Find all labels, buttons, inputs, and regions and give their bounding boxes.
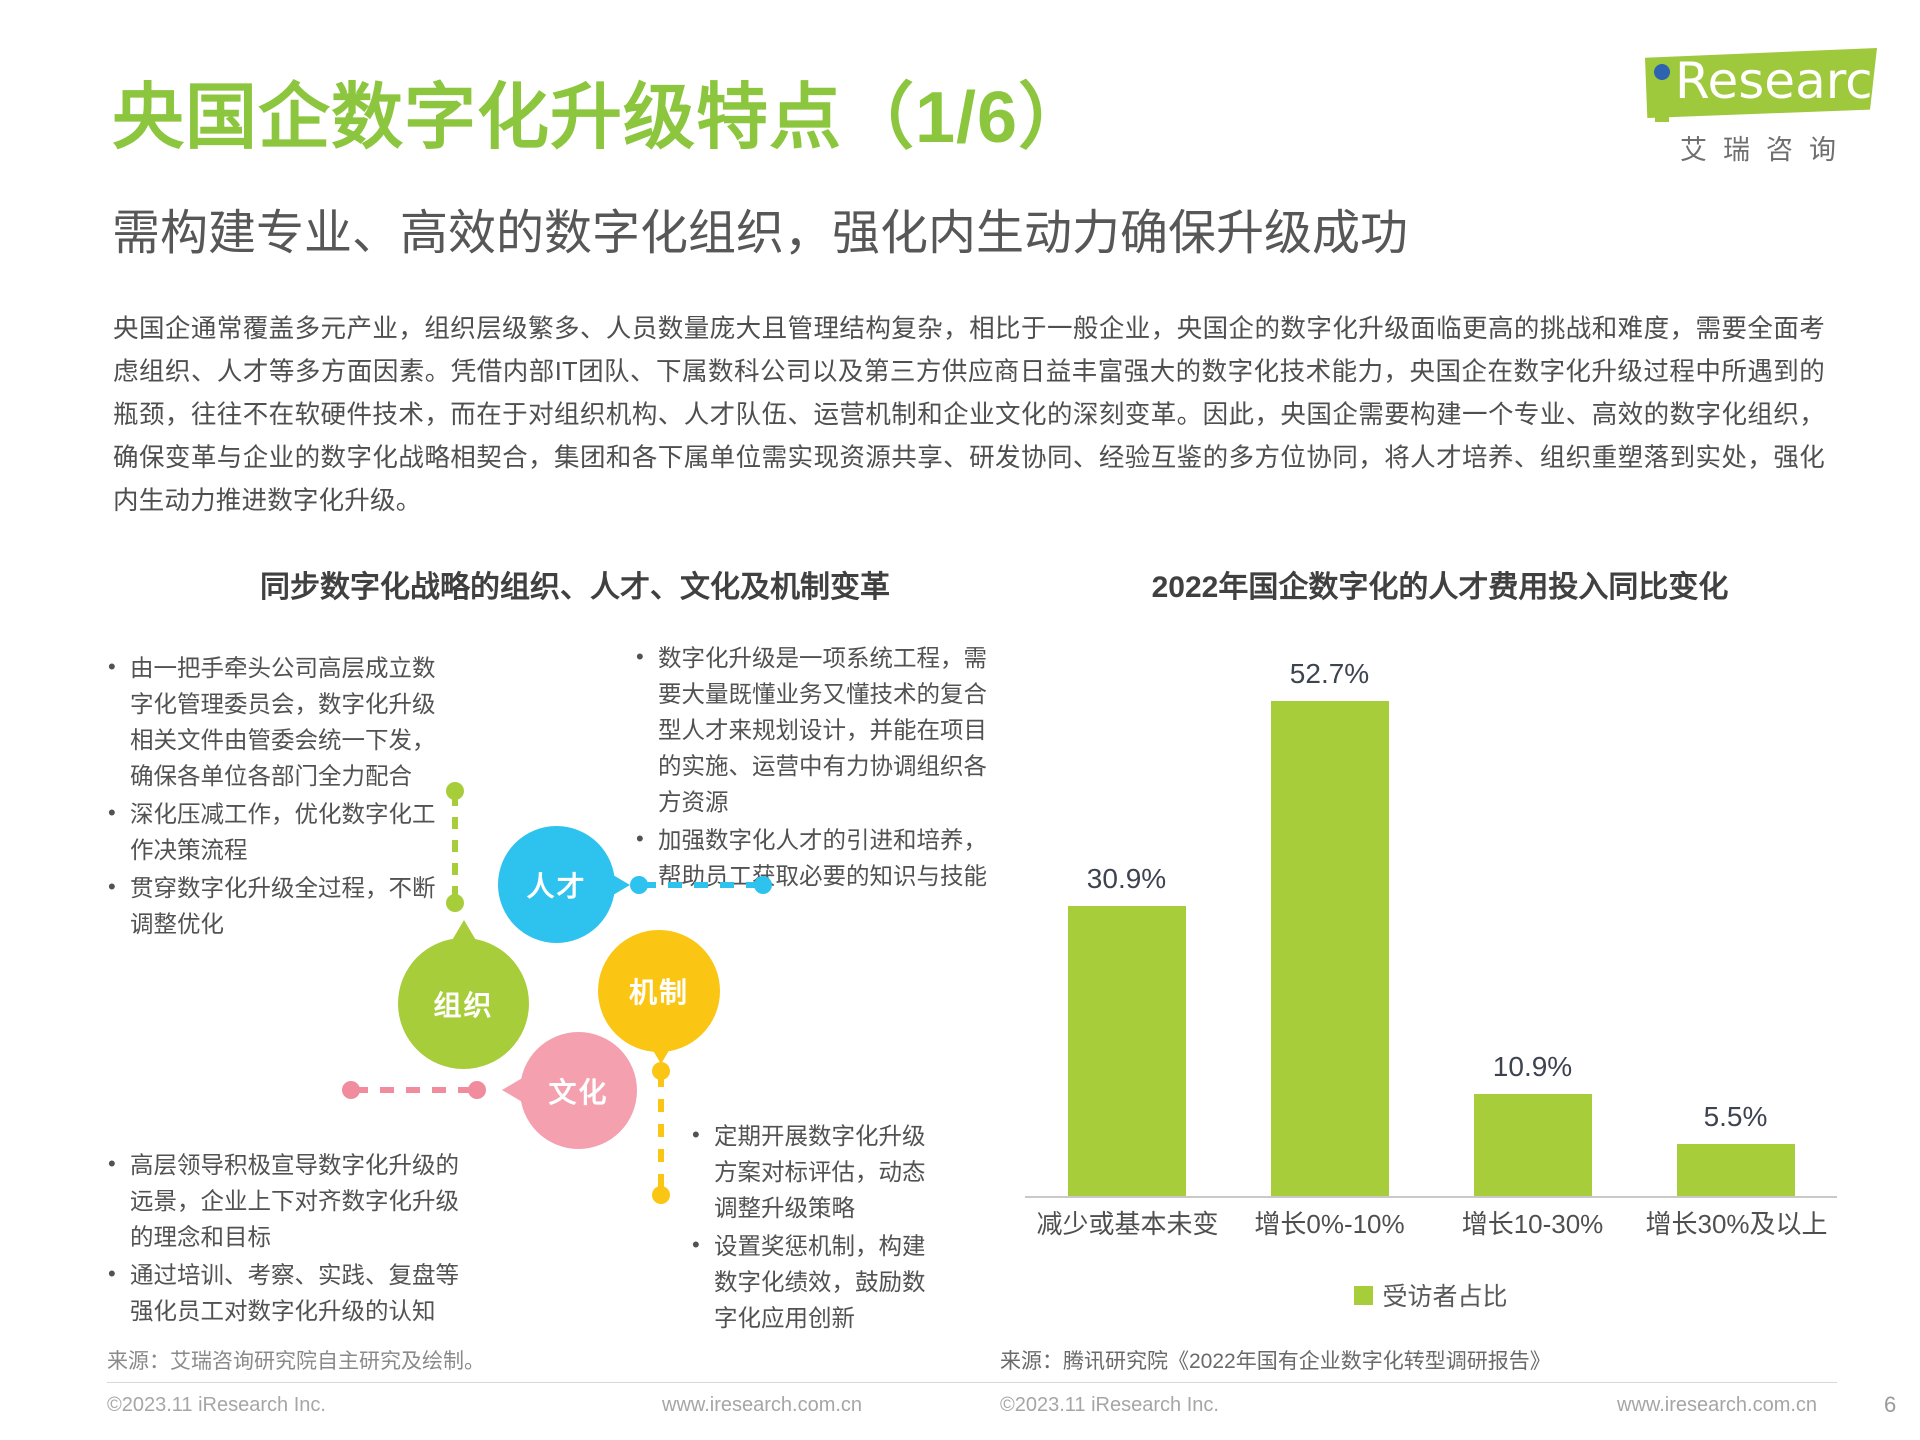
connector-dot [652,1186,670,1204]
footer-url-right[interactable]: www.iresearch.com.cn [1617,1394,1817,1417]
logo-chinese-name: 艾瑞咨询 [1653,128,1879,167]
connector-dot [468,1081,486,1099]
connector-dashes [354,1087,474,1093]
chart-legend: 受访者占比 [1025,1277,1837,1313]
four-pillar-bubble-diagram: 组织 人才 机制 文化 [380,810,800,1180]
bubble-talent: 人才 [498,826,615,943]
x-tick-label: 减少或基本未变 [1037,1204,1217,1241]
connector-dashes [452,794,458,906]
bar-slot: 5.5% [1646,632,1826,1196]
list-item: 由一把手牵头公司高层成立数字化管理委员会，数字化升级相关文件由管委会统一下发，确… [104,650,454,794]
x-tick-label: 增长10-30% [1443,1204,1623,1241]
chart-plot-area: 30.9% 52.7% 10.9% 5.5% [1025,632,1837,1198]
mechanism-connector-line [652,1062,670,1210]
page-subtitle: 需构建专业、高效的数字化组织，强化内生动力确保升级成功 [112,193,1408,263]
x-tick-label: 增长30%及以上 [1646,1204,1826,1241]
bubble-label: 文化 [548,1071,608,1111]
connector-dashes [658,1074,664,1192]
bubble-label: 机制 [629,971,689,1011]
logo-wordmark: Research [1675,52,1904,110]
talent-cost-bar-chart: 30.9% 52.7% 10.9% 5.5% 减少或基本未变 [1025,632,1837,1332]
legend-label: 受访者占比 [1382,1277,1507,1313]
right-panel-heading: 2022年国企数字化的人才费用投入同比变化 [1045,562,1835,606]
chart-x-tick-labels: 减少或基本未变 增长0%-10% 增长10-30% 增长30%及以上 [1025,1204,1837,1241]
page-number: 6 [1884,1392,1896,1418]
bar[interactable] [1677,1144,1795,1196]
legend-swatch-icon [1354,1286,1373,1305]
logo-i-dot-icon [1654,64,1670,80]
bar[interactable] [1068,906,1186,1196]
footer-copyright-left: ©2023.11 iResearch Inc. [107,1394,326,1417]
bubble-organization: 组织 [398,938,529,1069]
bar-slot: 10.9% [1443,632,1623,1196]
list-item: 设置奖惩机制，构建数字化绩效，鼓励数字化应用创新 [688,1228,938,1336]
connector-dot [446,894,464,912]
bar-value-label: 10.9% [1493,1051,1572,1083]
bubble-mechanism: 机制 [598,930,720,1052]
bar-value-label: 5.5% [1704,1101,1768,1133]
footer-url-left[interactable]: www.iresearch.com.cn [662,1394,862,1417]
footer-divider [107,1382,1837,1383]
list-item: 数字化升级是一项系统工程，需要大量既懂业务又懂技术的复合型人才来规划设计，并能在… [632,640,992,820]
chart-x-axis [1025,1196,1837,1198]
connector-dashes [642,882,760,888]
bar-value-label: 30.9% [1087,863,1166,895]
chart-bars: 30.9% 52.7% 10.9% 5.5% [1025,632,1837,1196]
bar-slot: 52.7% [1240,632,1420,1196]
culture-connector-line [342,1081,504,1099]
bar[interactable] [1474,1094,1592,1196]
bubble-label: 组织 [433,984,493,1024]
iresearch-logo: Research 艾瑞咨询 [1645,48,1885,168]
talent-connector-line [630,876,778,894]
left-panel-heading: 同步数字化战略的组织、人才、文化及机制变革 [160,562,990,606]
page-title: 央国企数字化升级特点（1/6） [112,58,1091,163]
connector-dot [754,876,772,894]
footer-copyright-right: ©2023.11 iResearch Inc. [1000,1394,1219,1417]
bubble-label: 人才 [526,865,586,905]
organization-connector-line [446,782,464,924]
x-tick-label: 增长0%-10% [1240,1204,1420,1241]
bar-value-label: 52.7% [1290,658,1369,690]
bubble-culture: 文化 [520,1032,637,1149]
right-panel-source: 来源：腾讯研究院《2022年国有企业数字化转型调研报告》 [1000,1345,1551,1375]
left-panel-source: 来源：艾瑞咨询研究院自主研究及绘制。 [107,1345,485,1375]
list-item: 通过培训、考察、实践、复盘等强化员工对数字化升级的认知 [104,1257,464,1329]
bar[interactable] [1271,701,1389,1196]
bar-slot: 30.9% [1037,632,1217,1196]
body-paragraph: 央国企通常覆盖多元产业，组织层级繁多、人员数量庞大且管理结构复杂，相比于一般企业… [113,308,1825,523]
slide-page: Research 艾瑞咨询 央国企数字化升级特点（1/6） 需构建专业、高效的数… [0,0,1920,1440]
logo-i-stem-icon [1655,84,1669,122]
